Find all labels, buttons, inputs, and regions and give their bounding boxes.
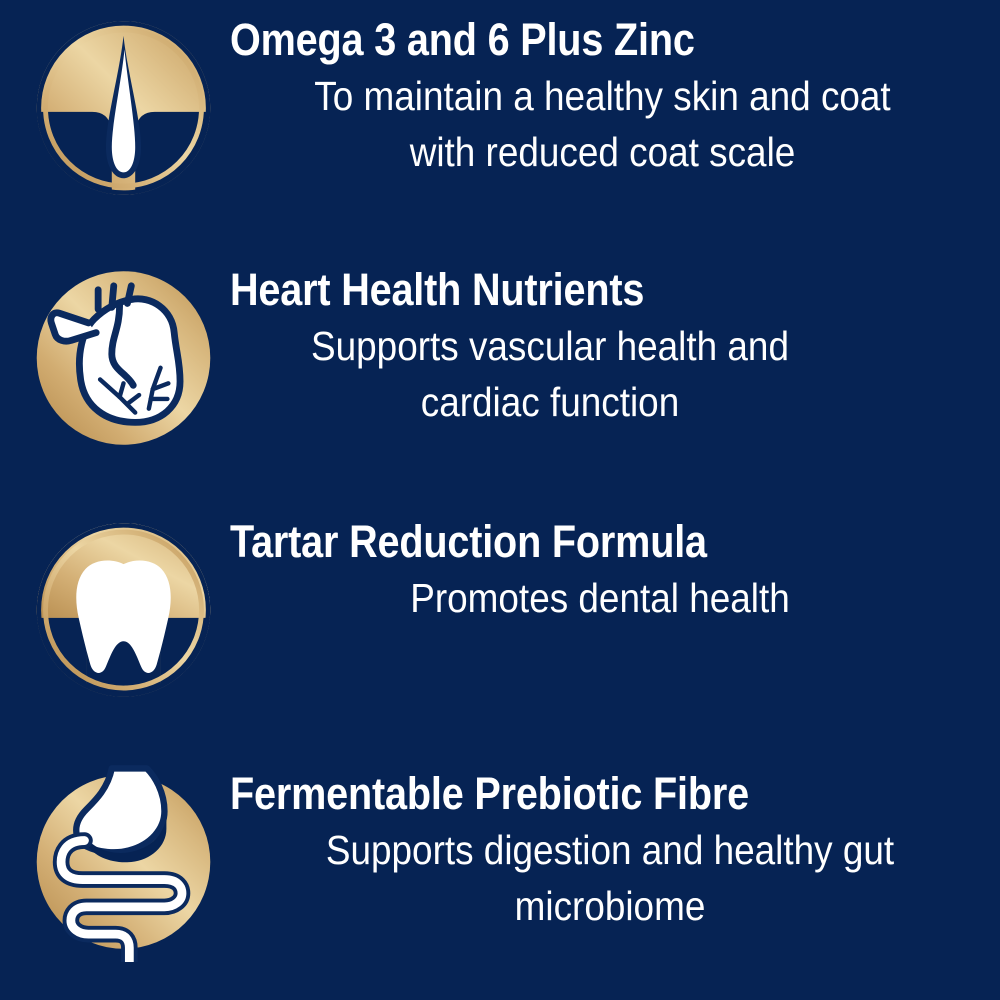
- benefit-description-line: with reduced coat scale: [267, 124, 938, 180]
- benefit-text: Heart Health Nutrients Supports vascular…: [230, 258, 870, 430]
- benefit-description: Supports vascular health and cardiac fun…: [262, 318, 838, 430]
- benefit-row: Heart Health Nutrients Supports vascular…: [0, 258, 1000, 458]
- benefit-description-line: Promotes dental health: [267, 570, 933, 626]
- benefit-description-line: cardiac function: [262, 374, 838, 430]
- benefit-description-line: Supports digestion and healthy gut: [268, 822, 952, 878]
- benefit-title: Heart Health Nutrients: [230, 264, 793, 316]
- stomach-intestine-icon-container: [0, 762, 230, 962]
- benefit-description: Supports digestion and healthy gut micro…: [268, 822, 952, 934]
- benefit-title: Tartar Reduction Formula: [230, 516, 881, 568]
- benefit-row: Tartar Reduction Formula Promotes dental…: [0, 510, 1000, 710]
- benefit-description-line: To maintain a healthy skin and coat: [267, 68, 938, 124]
- anatomical-heart-icon: [26, 258, 221, 458]
- benefit-description: Promotes dental health: [267, 570, 933, 626]
- benefits-panel: Omega 3 and 6 Plus Zinc To maintain a he…: [0, 0, 1000, 1000]
- benefit-description-line: microbiome: [268, 878, 952, 934]
- stomach-intestine-icon: [26, 762, 221, 962]
- hair-follicle-icon: [26, 8, 221, 208]
- anatomical-heart-icon-container: [0, 258, 230, 458]
- benefit-description-line: Supports vascular health and: [262, 318, 838, 374]
- benefit-row: Omega 3 and 6 Plus Zinc To maintain a he…: [0, 8, 1000, 208]
- hair-follicle-icon-container: [0, 8, 230, 208]
- benefit-title: Fermentable Prebiotic Fibre: [230, 768, 899, 820]
- tooth-icon-container: [0, 510, 230, 710]
- tooth-icon: [26, 510, 221, 710]
- benefit-title: Omega 3 and 6 Plus Zinc: [230, 14, 886, 66]
- benefit-description: To maintain a healthy skin and coat with…: [267, 68, 938, 180]
- benefit-row: Fermentable Prebiotic Fibre Supports dig…: [0, 762, 1000, 962]
- benefit-text: Tartar Reduction Formula Promotes dental…: [230, 510, 970, 626]
- benefit-text: Fermentable Prebiotic Fibre Supports dig…: [230, 762, 990, 934]
- benefit-text: Omega 3 and 6 Plus Zinc To maintain a he…: [230, 8, 975, 180]
